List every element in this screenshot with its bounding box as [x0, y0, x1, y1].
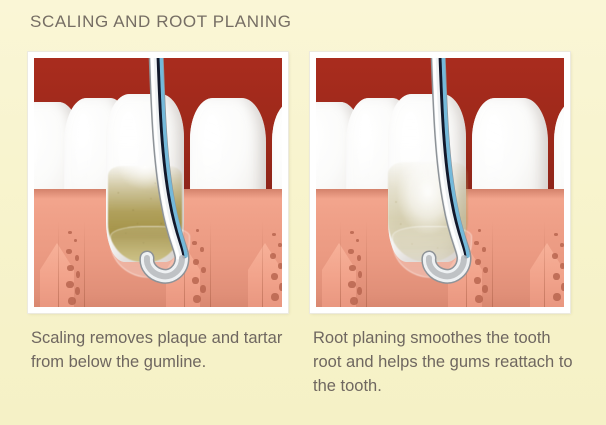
root-planing-scene: [316, 58, 564, 307]
bone-septum-line: [366, 221, 367, 307]
bone-marrow-texture: [344, 215, 366, 307]
root-planing-illustration-panel: [310, 52, 570, 313]
dental-scaler-instrument: [138, 58, 200, 284]
scaling-illustration-panel: [28, 52, 288, 313]
scaling-caption: Scaling removes plaque and tartar from b…: [31, 326, 283, 374]
bone-marrow-texture: [266, 215, 282, 307]
bone-septum-line: [340, 221, 341, 307]
dental-scaler-instrument: [420, 58, 482, 284]
bone-marrow-texture: [62, 215, 84, 307]
bone-septum-line: [492, 221, 493, 307]
bone-septum-line: [58, 221, 59, 307]
page-title: SCALING AND ROOT PLANING: [30, 12, 292, 32]
bone-septum-line: [262, 221, 263, 307]
bone-septum-line: [84, 221, 85, 307]
bone-septum-line: [210, 221, 211, 307]
scaling-scene: [34, 58, 282, 307]
bone-marrow-texture: [548, 215, 564, 307]
bone-septum-line: [544, 221, 545, 307]
infographic-root: SCALING AND ROOT PLANING: [0, 0, 606, 425]
root-planing-caption: Root planing smoothes the tooth root and…: [313, 326, 575, 398]
